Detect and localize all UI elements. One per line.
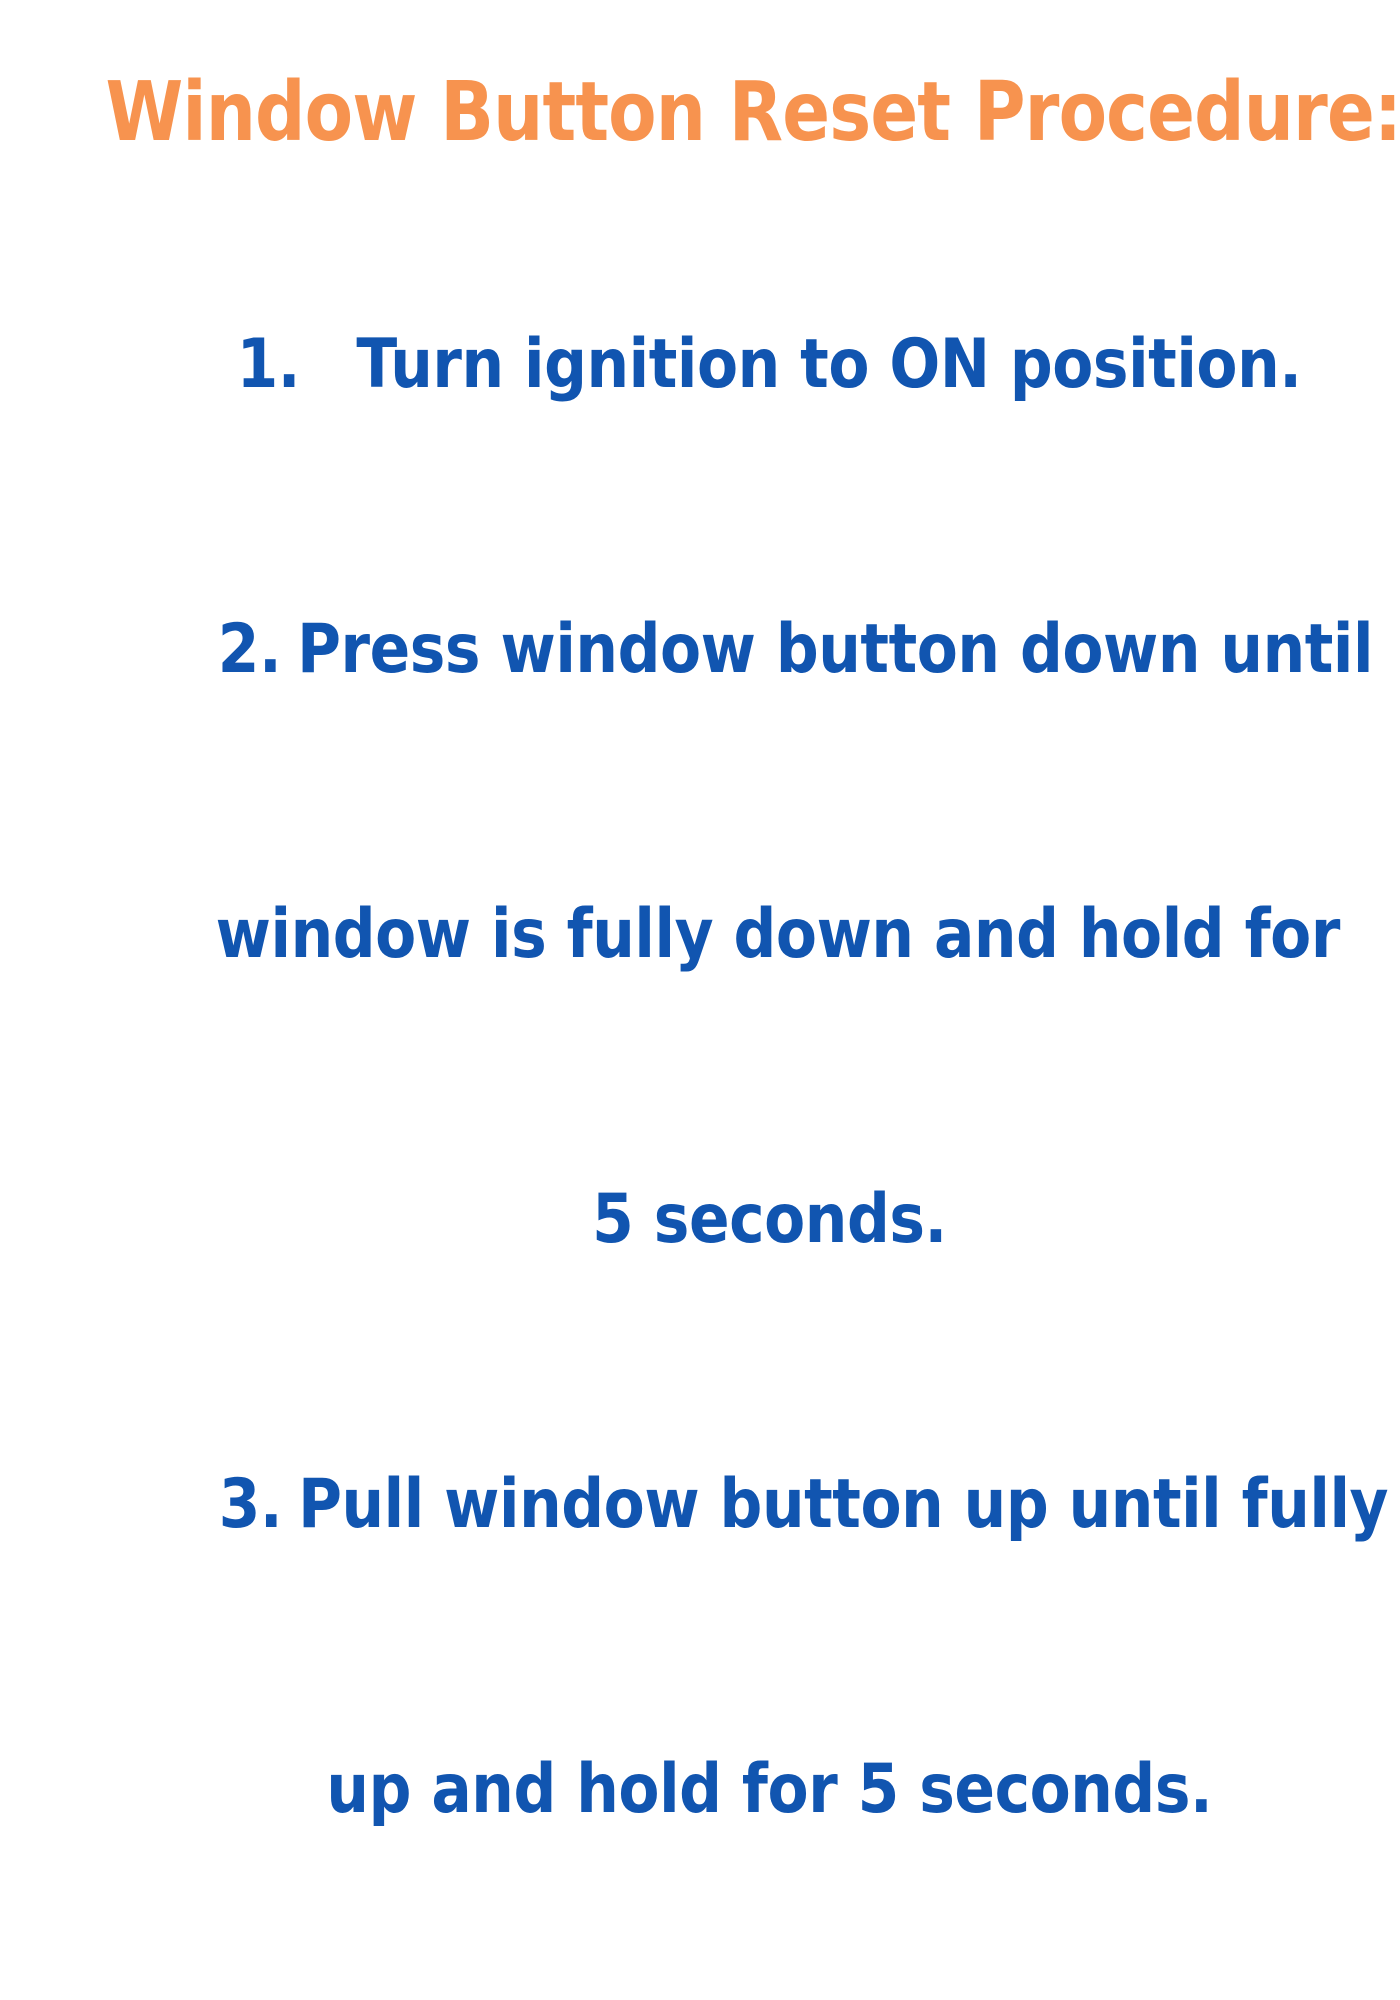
page-title-text: Window Button Reset Procedure: (105, 72, 1400, 154)
step-1-line-1: 1.Turn ignition to ON position. (237, 317, 1302, 412)
list-item: 1.Turn ignition to ON position. (0, 222, 1400, 507)
list-item: 2.Press window button down until (0, 507, 1400, 792)
step-3-line-1: 3.Pull window button up until fully (219, 1457, 1388, 1552)
step-2-text-line-1: Press window button down until (297, 610, 1373, 689)
list-item-continuation: window is fully down and hold for (0, 792, 1400, 1077)
list-item-continuation: 5 seconds. (0, 1077, 1400, 1362)
step-1-text: Turn ignition to ON position. (357, 325, 1302, 404)
step-2-number: 2. (218, 610, 281, 689)
list-item: 4.Repeat steps as necessary. (0, 1932, 1400, 2000)
list-item: 3.Pull window button up until fully (0, 1362, 1400, 1647)
step-2-line-1: 2.Press window button down until (218, 602, 1373, 697)
step-3-text-line-1: Pull window button up until fully (298, 1465, 1388, 1544)
procedure-step-list: 1.Turn ignition to ON position. 2.Press … (0, 222, 1400, 2000)
step-3-line-2-wrap: up and hold for 5 seconds. (327, 1742, 1213, 1837)
step-2-text-line-3: 5 seconds. (592, 1180, 947, 1259)
step-2-line-2-wrap: window is fully down and hold for (216, 887, 1340, 982)
step-2-line-3-wrap: 5 seconds. (592, 1172, 947, 1267)
step-1-number: 1. (237, 325, 300, 404)
page-title: Window Button Reset Procedure: (0, 72, 1400, 154)
list-item-continuation: up and hold for 5 seconds. (0, 1647, 1400, 1932)
procedure-slide: Window Button Reset Procedure: 1.Turn ig… (0, 0, 1400, 1000)
step-3-number: 3. (219, 1465, 282, 1544)
step-3-text-line-2: up and hold for 5 seconds. (327, 1750, 1213, 1829)
step-2-text-line-2: window is fully down and hold for (216, 895, 1340, 974)
